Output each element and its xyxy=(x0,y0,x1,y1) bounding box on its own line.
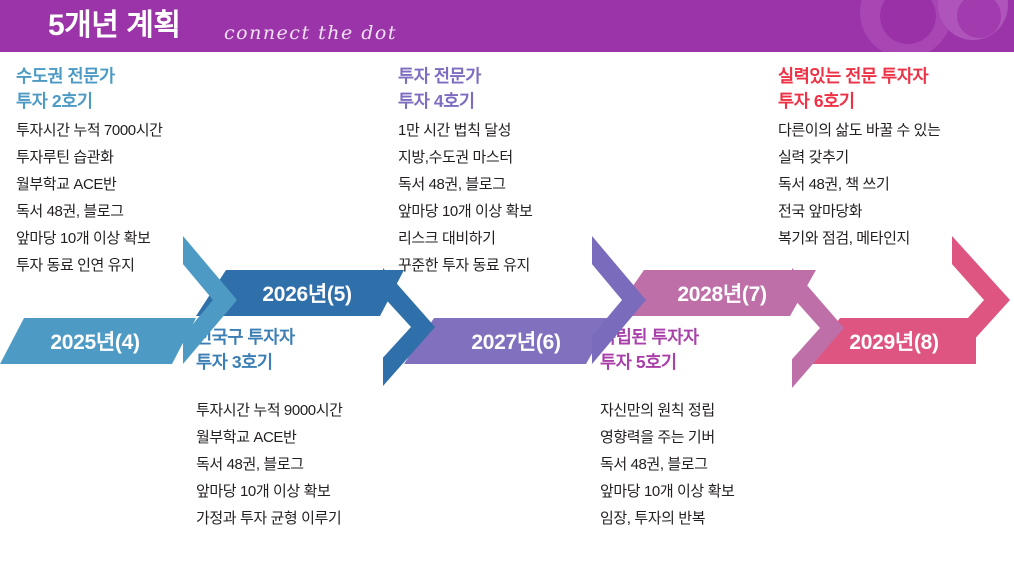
stage-column-2026: 전국구 투자자 투자 3호기 투자시간 누적 9000시간 월부학교 ACE반 … xyxy=(196,325,343,532)
stage-title: 실력있는 전문 투자자 투자 6호기 xyxy=(778,64,940,114)
stage-item-list: 투자시간 누적 9000시간 월부학교 ACE반 독서 48권, 블로그 앞마당… xyxy=(196,397,343,532)
timeline-band-2027[interactable]: 2027년(6) xyxy=(404,318,612,364)
list-item: 실력 갖추기 xyxy=(778,144,940,171)
stage-column-2028: 독립된 투자자 투자 5호기 자신만의 원칙 정립 영향력을 주는 기버 독서 … xyxy=(600,325,734,532)
timeline-band-label: 2026년(5) xyxy=(262,278,351,308)
list-item: 리스크 대비하기 xyxy=(398,225,532,252)
list-item: 꾸준한 투자 동료 유지 xyxy=(398,252,532,279)
stage-column-2029: 실력있는 전문 투자자 투자 6호기 다른이의 삶도 바꿀 수 있는 실력 갖추… xyxy=(778,64,940,252)
timeline-band-2025[interactable]: 2025년(4) xyxy=(0,318,196,364)
stage-item-list: 1만 시간 법칙 달성 지방,수도권 마스터 독서 48권, 블로그 앞마당 1… xyxy=(398,117,532,279)
stage-title-line: 전국구 투자자 xyxy=(196,325,343,350)
timeline-band-2028[interactable]: 2028년(7) xyxy=(612,270,816,316)
list-item: 투자루틴 습관화 xyxy=(16,144,163,171)
decorative-circle-inner-icon xyxy=(880,0,936,44)
stage-title: 독립된 투자자 투자 5호기 xyxy=(600,325,734,375)
list-item: 독서 48권, 블로그 xyxy=(196,451,343,478)
list-item: 앞마당 10개 이상 확보 xyxy=(16,225,163,252)
list-item: 가정과 투자 균형 이루기 xyxy=(196,505,343,532)
stage-title: 수도권 전문가 투자 2호기 xyxy=(16,64,163,114)
timeline-band-label: 2028년(7) xyxy=(677,278,766,308)
stage-title: 투자 전문가 투자 4호기 xyxy=(398,64,532,114)
list-item: 투자시간 누적 9000시간 xyxy=(196,397,343,424)
list-item: 독서 48권, 책 쓰기 xyxy=(778,171,940,198)
list-item: 독서 48권, 블로그 xyxy=(600,451,734,478)
stage-column-2027: 투자 전문가 투자 4호기 1만 시간 법칙 달성 지방,수도권 마스터 독서 … xyxy=(398,64,532,279)
stage-title-line: 실력있는 전문 투자자 xyxy=(778,64,940,89)
list-item: 지방,수도권 마스터 xyxy=(398,144,532,171)
list-item: 전국 앞마당화 xyxy=(778,198,940,225)
infographic-canvas: 5개년 계획 connect the dot 2025년(4) 2026년(5)… xyxy=(0,0,1014,570)
stage-title: 전국구 투자자 투자 3호기 xyxy=(196,325,343,375)
list-item: 투자 동료 인연 유지 xyxy=(16,252,163,279)
list-item: 1만 시간 법칙 달성 xyxy=(398,117,532,144)
timeline-band-label: 2029년(8) xyxy=(849,326,938,356)
stage-item-list: 자신만의 원칙 정립 영향력을 주는 기버 독서 48권, 블로그 앞마당 10… xyxy=(600,397,734,532)
list-item: 독서 48권, 블로그 xyxy=(16,198,163,225)
stage-title-line: 투자 3호기 xyxy=(196,350,343,375)
stage-title-line: 투자 6호기 xyxy=(778,89,940,114)
list-item: 영향력을 주는 기버 xyxy=(600,424,734,451)
timeline-band-2029[interactable]: 2029년(8) xyxy=(806,318,1014,364)
stage-title-line: 독립된 투자자 xyxy=(600,325,734,350)
list-item: 자신만의 원칙 정립 xyxy=(600,397,734,424)
list-item: 월부학교 ACE반 xyxy=(16,171,163,198)
list-item: 앞마당 10개 이상 확보 xyxy=(196,478,343,505)
list-item: 복기와 점검, 메타인지 xyxy=(778,225,940,252)
stage-title-line: 투자 전문가 xyxy=(398,64,532,89)
list-item: 독서 48권, 블로그 xyxy=(398,171,532,198)
stage-title-line: 투자 2호기 xyxy=(16,89,163,114)
stage-title-line: 투자 5호기 xyxy=(600,350,734,375)
list-item: 앞마당 10개 이상 확보 xyxy=(398,198,532,225)
list-item: 앞마당 10개 이상 확보 xyxy=(600,478,734,505)
timeline-band-label: 2027년(6) xyxy=(471,326,560,356)
page-title: 5개년 계획 xyxy=(48,6,180,46)
list-item: 다른이의 삶도 바꿀 수 있는 xyxy=(778,117,940,144)
timeline-band-label: 2025년(4) xyxy=(50,326,139,356)
page-subtitle: connect the dot xyxy=(224,22,397,44)
list-item: 월부학교 ACE반 xyxy=(196,424,343,451)
list-item: 투자시간 누적 7000시간 xyxy=(16,117,163,144)
decorative-circle-large-icon xyxy=(860,0,952,52)
decorative-circle-small-icon xyxy=(957,0,1001,38)
list-item: 임장, 투자의 반복 xyxy=(600,505,734,532)
stage-title-line: 수도권 전문가 xyxy=(16,64,163,89)
stage-column-2025: 수도권 전문가 투자 2호기 투자시간 누적 7000시간 투자루틴 습관화 월… xyxy=(16,64,163,279)
decorative-circle-medium-icon xyxy=(938,0,1008,40)
stage-item-list: 다른이의 삶도 바꿀 수 있는 실력 갖추기 독서 48권, 책 쓰기 전국 앞… xyxy=(778,117,940,252)
timeline-band-2026[interactable]: 2026년(5) xyxy=(196,270,404,316)
stage-title-line: 투자 4호기 xyxy=(398,89,532,114)
header-banner: 5개년 계획 connect the dot xyxy=(0,0,1014,52)
stage-item-list: 투자시간 누적 7000시간 투자루틴 습관화 월부학교 ACE반 독서 48권… xyxy=(16,117,163,279)
